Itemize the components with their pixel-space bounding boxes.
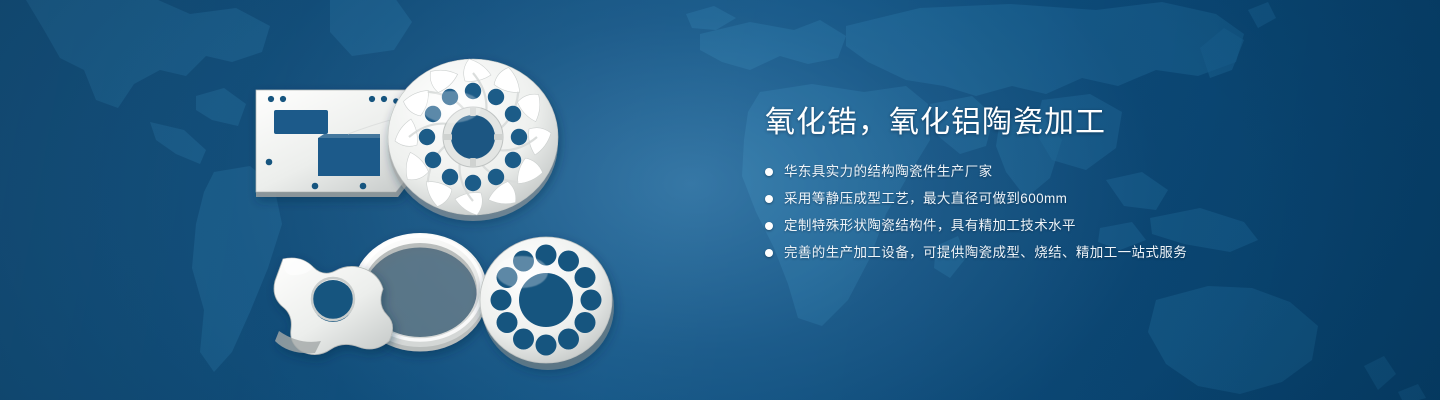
bullet-circle-icon <box>765 249 773 257</box>
feature-text: 采用等静压成型工艺，最大直径可做到600mm <box>784 188 1067 210</box>
feature-item: 采用等静压成型工艺，最大直径可做到600mm <box>765 188 1385 210</box>
ceramic-perforated-disc <box>480 237 614 370</box>
promo-banner: 氧化锆，氧化铝陶瓷加工 华东具实力的结构陶瓷件生产厂家 采用等静压成型工艺，最大… <box>0 0 1440 400</box>
banner-title: 氧化锆，氧化铝陶瓷加工 <box>765 106 1385 139</box>
feature-item: 定制特殊形状陶瓷结构件，具有精加工技术水平 <box>765 215 1385 237</box>
feature-list: 华东具实力的结构陶瓷件生产厂家 采用等静压成型工艺，最大直径可做到600mm 定… <box>765 161 1385 264</box>
feature-text: 定制特殊形状陶瓷结构件，具有精加工技术水平 <box>784 215 1076 237</box>
feature-text: 完善的生产加工设备，可提供陶瓷成型、烧结、精加工一站式服务 <box>784 242 1187 264</box>
feature-item: 完善的生产加工设备，可提供陶瓷成型、烧结、精加工一站式服务 <box>765 242 1385 264</box>
feature-item: 华东具实力的结构陶瓷件生产厂家 <box>765 161 1385 183</box>
banner-copy: 氧化锆，氧化铝陶瓷加工 华东具实力的结构陶瓷件生产厂家 采用等静压成型工艺，最大… <box>765 106 1385 269</box>
feature-text: 华东具实力的结构陶瓷件生产厂家 <box>784 161 993 183</box>
ceramic-parts-photo-group <box>230 42 700 372</box>
ceramic-vaned-impeller <box>388 59 558 221</box>
bullet-circle-icon <box>765 195 773 203</box>
bullet-circle-icon <box>765 222 773 230</box>
bullet-circle-icon <box>765 168 773 176</box>
